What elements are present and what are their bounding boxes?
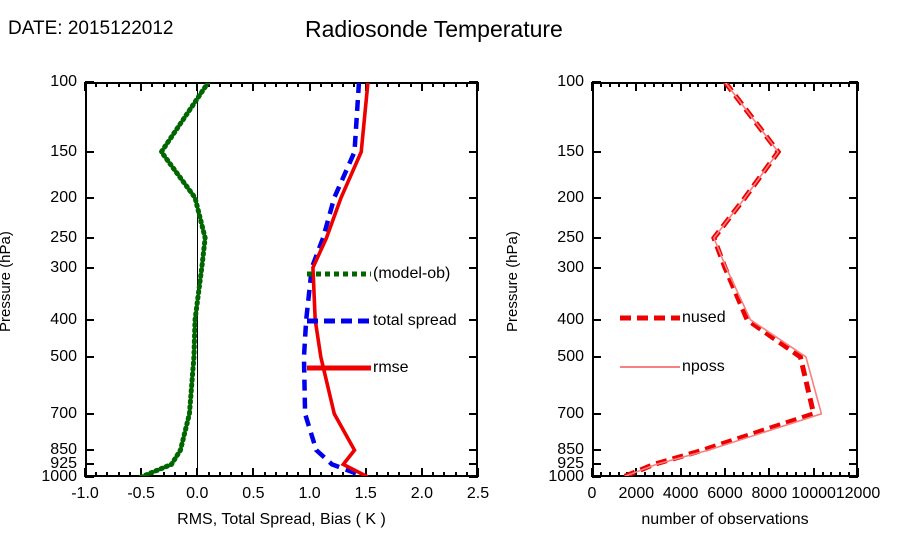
plot-page: DATE: 2015122012 Radiosonde Temperature … — [0, 0, 900, 560]
right-plot-panel: 1001502002503004005007008509251000020004… — [0, 0, 900, 560]
legend-swatch-nused — [620, 316, 680, 321]
data-curves — [0, 0, 900, 560]
legend-label-nused: nused — [682, 309, 726, 327]
legend-label-nposs: nposs — [682, 358, 725, 376]
series-line-nused — [623, 82, 814, 477]
series-line-nposs — [623, 82, 821, 477]
legend-swatch-nposs — [620, 366, 680, 368]
